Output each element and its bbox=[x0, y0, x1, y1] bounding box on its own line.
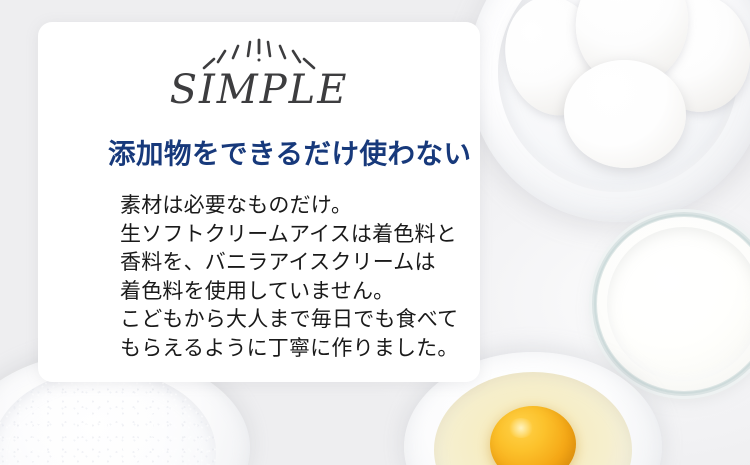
sunburst-icon bbox=[38, 36, 480, 70]
body-line: もらえるように丁寧に作りました。 bbox=[120, 335, 490, 364]
body-line: 生ソフトクリームアイスは着色料と bbox=[120, 221, 490, 250]
sugar-mound bbox=[0, 370, 216, 465]
milk-glass-image bbox=[596, 216, 750, 392]
sugar-grain-texture bbox=[0, 370, 216, 465]
egg-bowl-image bbox=[468, 0, 750, 222]
simple-wordmark: SIMPLE bbox=[38, 70, 480, 110]
body-line: こどもから大人まで毎日でも食べて bbox=[120, 306, 490, 335]
body-line: 香料を、バニラアイスクリームは bbox=[120, 249, 490, 278]
body-copy: 素材は必要なものだけ。 生ソフトクリームアイスは着色料と 香料を、バニラアイスク… bbox=[120, 192, 490, 363]
body-line: 着色料を使用していません。 bbox=[120, 278, 490, 307]
content-card: SIMPLE 添加物をできるだけ使わない 素材は必要なものだけ。 生ソフトクリー… bbox=[38, 22, 480, 382]
page-title: 添加物をできるだけ使わない bbox=[108, 138, 508, 170]
screenshot-stage: SIMPLE 添加物をできるだけ使わない 素材は必要なものだけ。 生ソフトクリー… bbox=[0, 0, 750, 465]
body-line: 素材は必要なものだけ。 bbox=[120, 192, 490, 221]
glass-rim bbox=[594, 214, 750, 394]
yolk-highlight bbox=[508, 418, 534, 438]
